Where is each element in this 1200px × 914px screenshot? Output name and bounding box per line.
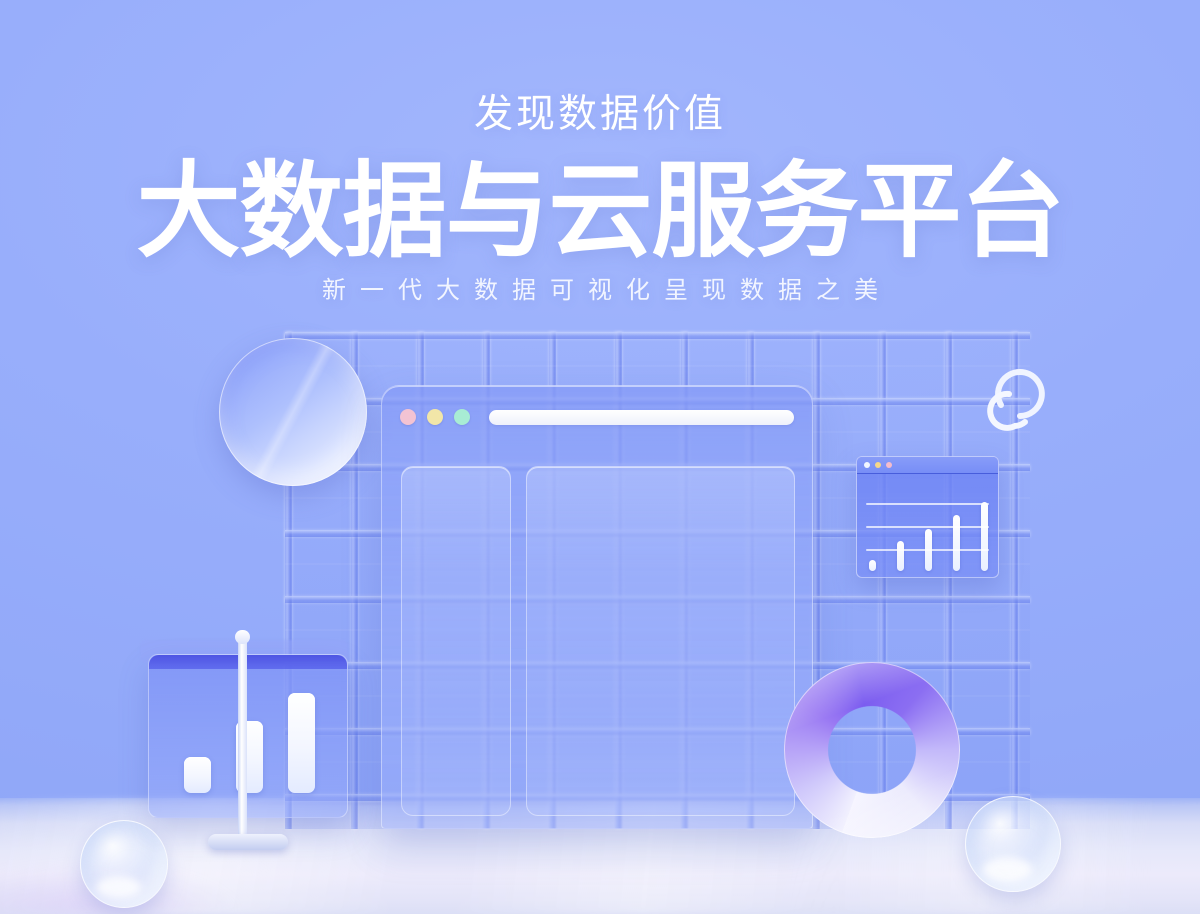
- sidebar-panel[interactable]: [401, 466, 511, 816]
- gradient-disc-rim: [219, 338, 367, 486]
- monitor-base: [208, 834, 288, 850]
- address-bar[interactable]: [489, 410, 794, 425]
- bar-item: [981, 502, 988, 571]
- analytics-card[interactable]: [856, 456, 999, 578]
- glass-sphere-right: [965, 796, 1061, 892]
- bar-item: [288, 693, 315, 793]
- floor-warm-glow: [0, 844, 340, 914]
- minimize-icon[interactable]: [427, 409, 443, 425]
- cloud-icon: [975, 360, 1067, 438]
- analytics-card-chart: [857, 474, 998, 578]
- hero-subtitle: 新一代大数据可视化呈现数据之美: [0, 279, 1200, 303]
- bar-item: [184, 757, 211, 793]
- browser-window[interactable]: [381, 385, 813, 829]
- monitor-bar-series: [171, 683, 327, 793]
- browser-titlebar: [382, 386, 812, 448]
- glass-sphere-left: [80, 820, 168, 908]
- hero-text: 发现数据价值 大数据与云服务平台 新一代大数据可视化呈现数据之美: [0, 0, 1200, 303]
- monitor-pole: [238, 636, 247, 845]
- maximize-icon[interactable]: [454, 409, 470, 425]
- monitor-panel[interactable]: [148, 654, 348, 818]
- content-panel[interactable]: [526, 466, 795, 816]
- donut-ring-rim: [784, 662, 960, 838]
- chart-gridline: [866, 503, 989, 505]
- hero-eyebrow: 发现数据价值: [0, 95, 1200, 134]
- close-icon[interactable]: [864, 462, 870, 468]
- chart-gridline: [866, 549, 989, 551]
- maximize-icon[interactable]: [886, 462, 892, 468]
- bar-item: [869, 560, 876, 571]
- bar-item: [897, 541, 904, 571]
- chart-gridline: [866, 526, 989, 528]
- monitor-titlebar: [149, 655, 347, 669]
- hero-stage: 发现数据价值 大数据与云服务平台 新一代大数据可视化呈现数据之美: [0, 0, 1200, 914]
- monitor-pole-cap: [235, 630, 250, 644]
- minimize-icon[interactable]: [875, 462, 881, 468]
- close-icon[interactable]: [400, 409, 416, 425]
- bar-item: [953, 515, 960, 571]
- page-title: 大数据与云服务平台: [0, 159, 1200, 265]
- analytics-card-titlebar: [857, 457, 998, 474]
